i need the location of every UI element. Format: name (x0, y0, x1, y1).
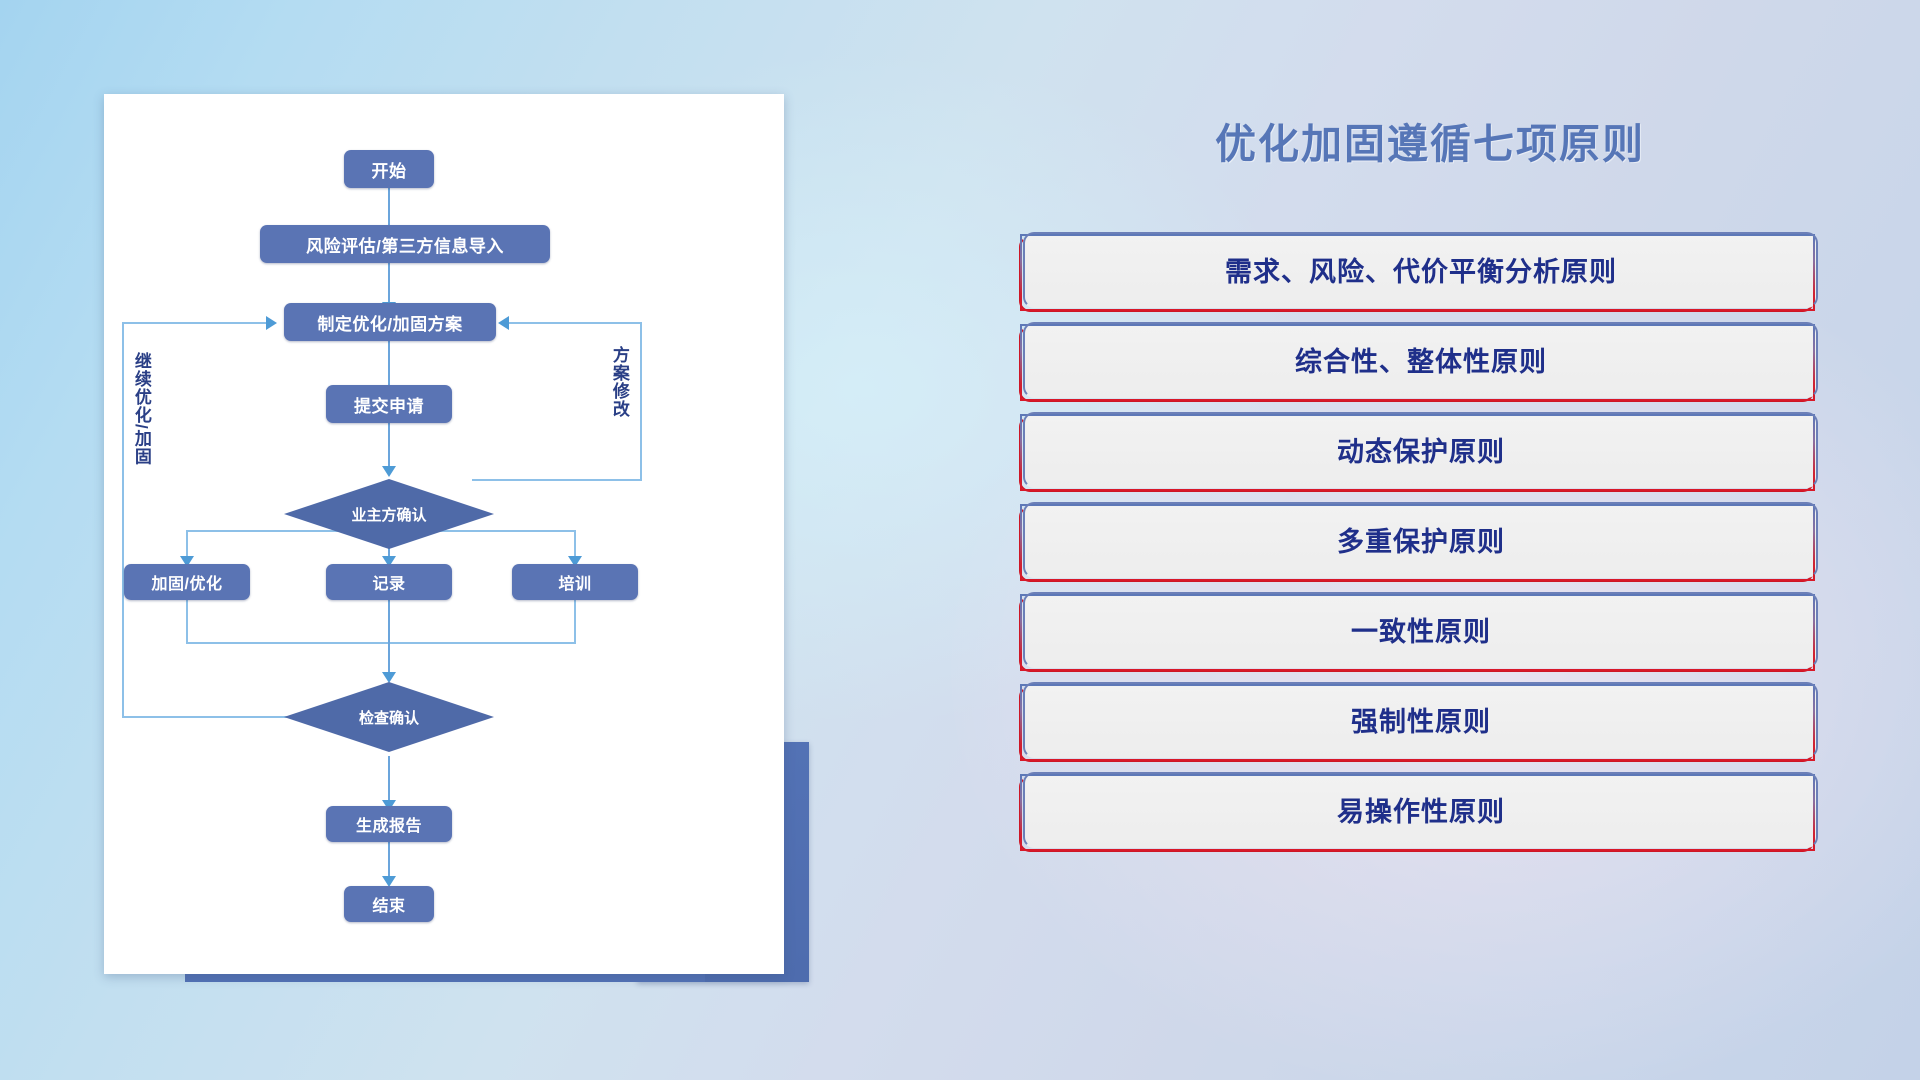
connector-submit-ownercfm (388, 422, 390, 470)
flow-node-reinforce[interactable]: 加固/优化 (124, 564, 250, 600)
flow-node-training[interactable]: 培训 (512, 564, 638, 600)
flow-node-risk-assessment-label: 风险评估/第三方信息导入 (306, 232, 504, 257)
flow-edge-label-right: 方案修改 (610, 346, 628, 418)
connector-reinforce-down (186, 598, 188, 644)
principle-label-5: 一致性原则 (1351, 610, 1491, 649)
connector-right-riser (640, 322, 642, 481)
principle-item-6[interactable]: 强制性原则 (1023, 682, 1818, 758)
flow-node-risk-assessment[interactable]: 风险评估/第三方信息导入 (260, 225, 550, 263)
principle-label-4: 多重保护原则 (1337, 520, 1505, 559)
flow-node-check-confirm-label: 检查确认 (359, 707, 419, 728)
flow-node-start[interactable]: 开始 (344, 150, 434, 188)
principle-label-3: 动态保护原则 (1337, 430, 1505, 469)
connector-plan-submit (388, 340, 390, 390)
flow-node-owner-confirm-label: 业主方确认 (351, 504, 426, 525)
flowchart-card: 开始 风险评估/第三方信息导入 制定优化/加固方案 提交申请 业主方确认 加固/… (104, 94, 784, 974)
arrowhead-right-to-plan (498, 316, 509, 330)
flow-node-submit-label: 提交申请 (354, 392, 424, 417)
connector-left-to-plan (122, 322, 268, 324)
connector-right-to-plan (508, 322, 642, 324)
flow-node-reinforce-label: 加固/优化 (152, 570, 223, 594)
principles-panel: 优化加固遵循七项原则 需求、风险、代价平衡分析原则 综合性、整体性原则 动态保护… (1020, 0, 1920, 1080)
flow-node-owner-confirm[interactable]: 业主方确认 (284, 479, 494, 549)
principle-label-7: 易操作性原则 (1337, 790, 1505, 829)
connector-ownercfm-right (472, 479, 642, 481)
flow-node-plan-label: 制定优化/加固方案 (317, 310, 462, 335)
flow-node-plan[interactable]: 制定优化/加固方案 (284, 303, 496, 341)
flow-node-training-label: 培训 (558, 570, 591, 594)
principle-item-2[interactable]: 综合性、整体性原则 (1023, 322, 1818, 398)
flow-node-submit[interactable]: 提交申请 (326, 385, 452, 423)
flow-node-check-confirm[interactable]: 检查确认 (284, 682, 494, 752)
connector-report-end (388, 842, 390, 880)
arrowhead-submit-ownercfm (382, 466, 396, 477)
arrowhead-to-checkcfm (382, 672, 396, 683)
flow-node-record-label: 记录 (372, 570, 405, 594)
flow-edge-label-left: 继续优化/加固 (132, 352, 150, 466)
flow-node-record[interactable]: 记录 (326, 564, 452, 600)
principle-item-3[interactable]: 动态保护原则 (1023, 412, 1818, 488)
principle-label-1: 需求、风险、代价平衡分析原则 (1225, 250, 1617, 289)
connector-left-riser (122, 322, 124, 718)
flow-node-end[interactable]: 结束 (344, 886, 434, 922)
principle-label-6: 强制性原则 (1351, 700, 1491, 739)
flow-node-report-label: 生成报告 (356, 812, 422, 836)
connector-record-down (388, 598, 390, 676)
connector-checkcfm-report (388, 756, 390, 804)
principle-item-4[interactable]: 多重保护原则 (1023, 502, 1818, 578)
connector-checkcfm-left (122, 716, 304, 718)
principle-item-5[interactable]: 一致性原则 (1023, 592, 1818, 668)
flow-node-start-label: 开始 (372, 157, 407, 182)
arrowhead-left-to-plan (266, 316, 277, 330)
connector-merge-bar (186, 642, 576, 644)
principle-item-1[interactable]: 需求、风险、代价平衡分析原则 (1023, 232, 1818, 308)
flow-node-end-label: 结束 (372, 892, 405, 916)
principle-label-2: 综合性、整体性原则 (1295, 340, 1547, 379)
connector-start-risk (388, 188, 390, 230)
principles-title: 优化加固遵循七项原则 (1020, 110, 1840, 170)
principles-list: 需求、风险、代价平衡分析原则 综合性、整体性原则 动态保护原则 多重保护原则 一… (1023, 232, 1818, 862)
principle-item-7[interactable]: 易操作性原则 (1023, 772, 1818, 848)
connector-training-down (574, 598, 576, 644)
connector-risk-plan (388, 262, 390, 306)
flowchart-panel: 开始 风险评估/第三方信息导入 制定优化/加固方案 提交申请 业主方确认 加固/… (0, 0, 830, 1080)
flow-node-report[interactable]: 生成报告 (326, 806, 452, 842)
